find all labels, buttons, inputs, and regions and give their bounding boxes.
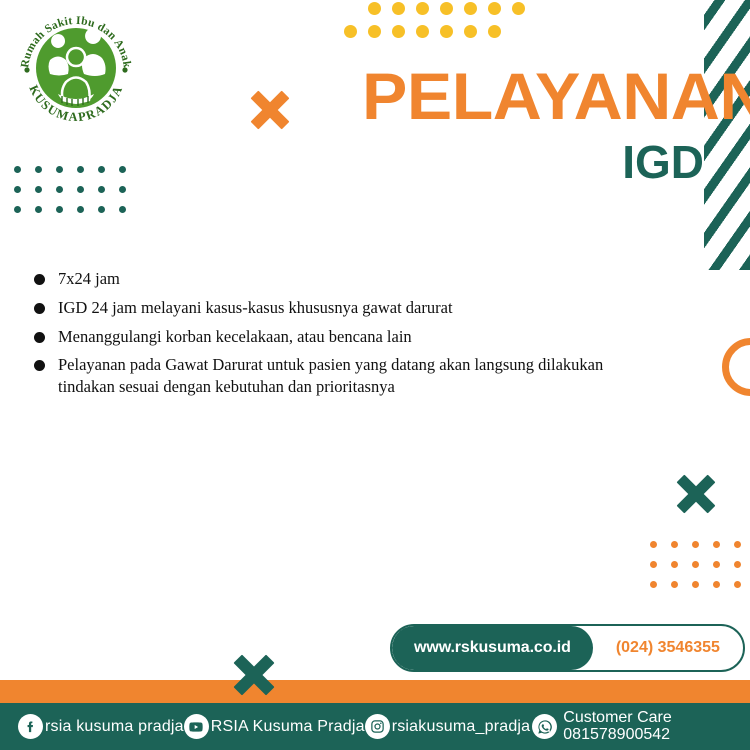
social-whatsapp[interactable]: Customer Care 081578900542 [532, 710, 671, 744]
cross-teal-bottom-icon [234, 655, 274, 695]
yellow-dot-grid-decoration [344, 2, 536, 48]
phone-number[interactable]: (024) 3546355 [593, 626, 743, 670]
social-youtube[interactable]: RSIA Kusuma Pradja [184, 714, 365, 739]
youtube-handle: RSIA Kusuma Pradja [211, 718, 365, 736]
whatsapp-label-line2: 081578900542 [563, 727, 671, 744]
social-instagram[interactable]: rsiakusuma_pradja [365, 714, 531, 739]
footer-orange-stripe [0, 680, 750, 703]
cross-teal-right-icon [676, 474, 716, 514]
list-item: Pelayanan pada Gawat Darurat untuk pasie… [30, 354, 630, 398]
social-facebook[interactable]: rsia kusuma pradja [18, 714, 184, 739]
website-link[interactable]: www.rskusuma.co.id [392, 626, 593, 670]
youtube-icon [184, 714, 209, 739]
contact-pill[interactable]: www.rskusuma.co.id (024) 3546355 [390, 624, 745, 672]
footer-bar: rsia kusuma pradja RSIA Kusuma Pradja rs… [0, 703, 750, 750]
instagram-handle: rsiakusuma_pradja [392, 718, 531, 736]
facebook-handle: rsia kusuma pradja [45, 718, 184, 736]
whatsapp-label-line1: Customer Care [563, 710, 671, 727]
diagonal-stripes-decoration [704, 0, 750, 270]
list-item: Menanggulangi korban kecelakaan, atau be… [30, 326, 630, 348]
orange-dot-grid-decoration [650, 541, 750, 601]
facebook-icon [18, 714, 43, 739]
teal-dot-grid-decoration [14, 166, 140, 226]
whatsapp-icon [532, 714, 557, 739]
hospital-logo: Rumah Sakit Ibu dan Anak KUSUMAPRADJA [14, 8, 138, 126]
list-item: IGD 24 jam melayani kasus-kasus khususny… [30, 297, 630, 319]
orange-ring-decoration [722, 338, 750, 396]
page-subtitle: IGD [372, 139, 704, 185]
list-item: 7x24 jam [30, 268, 630, 290]
headline-block: PELAYANAN IGD [372, 66, 704, 185]
service-bullet-list: 7x24 jam IGD 24 jam melayani kasus-kasus… [30, 268, 630, 405]
instagram-icon [365, 714, 390, 739]
cross-orange-icon [250, 90, 290, 130]
poster-canvas: Rumah Sakit Ibu dan Anak KUSUMAPRADJA PE… [0, 0, 750, 750]
page-title: PELAYANAN [362, 66, 704, 127]
